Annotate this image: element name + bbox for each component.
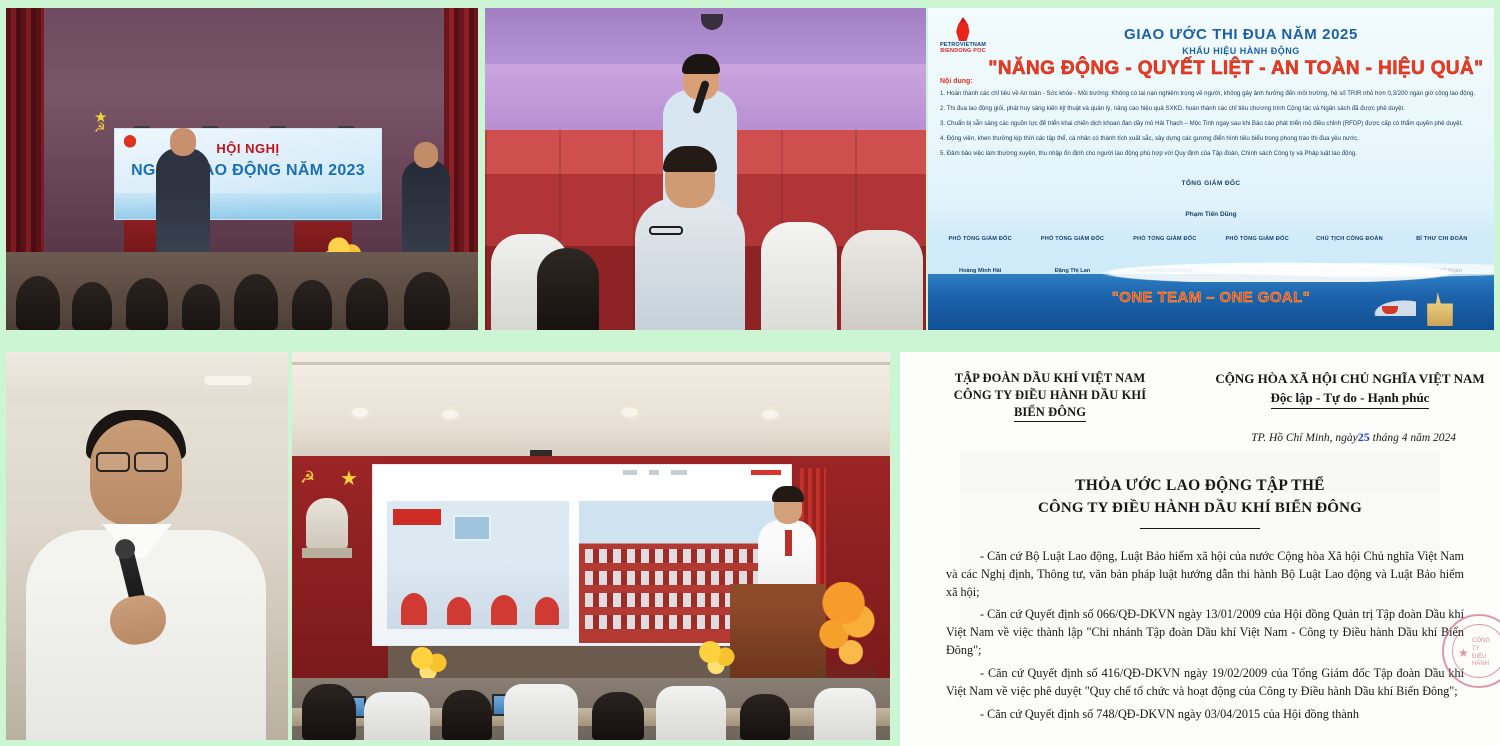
curtain-left xyxy=(6,8,44,260)
list-item: 1. Hoàn thành các chỉ tiêu về An toàn - … xyxy=(940,90,1484,98)
eyeglasses-icon xyxy=(134,452,168,472)
list-item: 5. Đảm bảo việc làm thường xuyên, thu nh… xyxy=(940,150,1484,158)
eyeglasses-icon xyxy=(649,226,683,235)
document-body: - Căn cứ Bộ Luật Lao động, Luật Bảo hiểm… xyxy=(946,548,1464,728)
attendee xyxy=(537,248,599,330)
clouds xyxy=(928,252,1494,282)
bust-pedestal xyxy=(302,548,352,558)
poster-slogan: "NĂNG ĐỘNG - QUYẾT LIỆT - AN TOÀN - HIỆU… xyxy=(988,58,1484,80)
eyeglasses-icon xyxy=(96,452,130,472)
hoi-nghi-nguoi-lao-dong-2023-photo[interactable]: ★ ☭ HỘI NGHỊ NGƯỜI LAO ĐỘNG NĂM 2023 xyxy=(6,8,478,330)
signatory-role: BÍ THƯ CHI ĐOÀN xyxy=(1396,236,1488,242)
video-conference-screen xyxy=(372,464,792,646)
document-title-line1: THỎA ƯỚC LAO ĐỘNG TẬP THỂ xyxy=(900,477,1500,495)
screen-title-line2: NGƯỜI LAO ĐỘNG NĂM 2023 xyxy=(115,162,381,180)
thoa-uoc-lao-dong-tap-the-document[interactable]: TẬP ĐOÀN DẦU KHÍ VIỆT NAM CÔNG TY ĐIỀU H… xyxy=(900,352,1500,746)
national-title: CỘNG HÒA XÃ HỘI CHỦ NGHĨA VIỆT NAM xyxy=(1200,370,1500,387)
audience-crowd xyxy=(6,252,478,330)
document-page: TẬP ĐOÀN DẦU KHÍ VIỆT NAM CÔNG TY ĐIỀU H… xyxy=(900,352,1500,746)
face xyxy=(90,420,182,526)
screen-wave-graphic xyxy=(115,193,381,219)
place-prefix: TP. Hồ Chí Minh, ngày xyxy=(1251,432,1358,444)
star-icon: ★ xyxy=(340,466,358,491)
poster-title: GIAO ƯỚC THI ĐUA NĂM 2025 xyxy=(998,26,1484,43)
audience-question-photo[interactable] xyxy=(485,8,926,330)
document-paragraph: - Căn cứ Quyết định số 748/QĐ-DKVN ngày … xyxy=(946,706,1464,724)
handwritten-day: 25 xyxy=(1358,430,1370,444)
star-icon: ★ xyxy=(1458,646,1469,661)
video-tile-left xyxy=(387,501,569,629)
title-divider xyxy=(1140,528,1260,529)
giao-uoc-thi-dua-2025-poster[interactable]: PETROVIETNAM BIENDONG POC GIAO ƯỚC THI Đ… xyxy=(928,8,1494,330)
org-line3: BIỂN ĐÔNG xyxy=(1014,404,1086,423)
document-header: TẬP ĐOÀN DẦU KHÍ VIỆT NAM CÔNG TY ĐIỀU H… xyxy=(900,370,1500,422)
party-flag: ★ ☭ xyxy=(90,104,116,138)
hammer-sickle-icon: ☭ xyxy=(94,120,106,136)
director-name: Phạm Tiến Dũng xyxy=(928,211,1494,218)
boat-icon xyxy=(1382,306,1398,314)
ceiling-lamp xyxy=(204,376,252,385)
list-item: 2. Thi đua lao động giỏi, phát huy sáng … xyxy=(940,105,1484,113)
wall-picture xyxy=(453,515,491,541)
seal-text: CÔNGTYĐIỀUHÀNH xyxy=(1472,638,1490,669)
list-item: 4. Động viên, khen thưởng kịp thời các t… xyxy=(940,135,1484,143)
document-paragraph: - Căn cứ Quyết định số 416/QĐ-DKVN ngày … xyxy=(946,665,1464,701)
signatory-role: PHÓ TỔNG GIÁM ĐỐC xyxy=(1026,236,1118,242)
flame-icon xyxy=(953,17,973,41)
presentation-screen: HỘI NGHỊ NGƯỜI LAO ĐỘNG NĂM 2023 xyxy=(114,128,382,220)
document-title-line2: CÔNG TY ĐIỀU HÀNH DẦU KHÍ BIỂN ĐÔNG xyxy=(900,500,1500,517)
list-item: 3. Chuẩn bị sẵn sàng các nguồn lực để tr… xyxy=(940,120,1484,128)
place-and-date: TP. Hồ Chí Minh, ngày25 tháng 4 năm 2024 xyxy=(1251,430,1456,445)
podium xyxy=(730,584,826,680)
attendee xyxy=(841,230,923,330)
flower-arrangement xyxy=(694,636,740,676)
director-role: TỔNG GIÁM ĐỐC xyxy=(928,180,1494,187)
hammer-sickle-icon: ☭ xyxy=(300,468,326,490)
screen-title-line1: HỘI NGHỊ xyxy=(115,141,381,156)
speaker-with-microphone-photo[interactable] xyxy=(6,352,288,740)
screen-toolbar xyxy=(373,465,791,481)
photo-collage: ★ ☭ HỘI NGHỊ NGƯỜI LAO ĐỘNG NĂM 2023 xyxy=(0,0,1500,746)
flower-arrangement xyxy=(406,642,452,682)
logo-line2: BIENDONG POC xyxy=(936,48,990,54)
document-paragraph: - Căn cứ Quyết định số 066/QĐ-DKVN ngày … xyxy=(946,606,1464,659)
petrovietnam-logo: PETROVIETNAM BIENDONG POC xyxy=(936,16,990,62)
place-suffix: tháng 4 năm 2024 xyxy=(1373,432,1456,444)
national-motto: Độc lập - Tự do - Hạnh phúc xyxy=(1271,389,1430,408)
necktie xyxy=(785,530,792,556)
header-left: TẬP ĐOÀN DẦU KHÍ VIỆT NAM CÔNG TY ĐIỀU H… xyxy=(900,370,1200,422)
red-banner xyxy=(393,509,441,525)
org-line2: CÔNG TY ĐIỀU HÀNH DẦU KHÍ xyxy=(900,387,1200,404)
header-right: CỘNG HÒA XÃ HỘI CHỦ NGHĨA VIỆT NAM Độc l… xyxy=(1200,370,1500,422)
poster-subtitle: KHẨU HIỆU HÀNH ĐỘNG xyxy=(998,46,1484,56)
foreground-person xyxy=(635,198,745,330)
org-line1: TẬP ĐOÀN DẦU KHÍ VIỆT NAM xyxy=(900,370,1200,387)
conference-room-video-screen-photo[interactable]: ☭ ★ xyxy=(292,352,890,740)
signatory-role: PHÓ TỔNG GIÁM ĐỐC xyxy=(934,236,1026,242)
signatory-roles: PHÓ TỔNG GIÁM ĐỐC PHÓ TỔNG GIÁM ĐỐC PHÓ … xyxy=(934,236,1488,242)
floor xyxy=(292,678,890,740)
ceiling xyxy=(292,352,890,456)
footer-slogan: "ONE TEAM – ONE GOAL" xyxy=(928,289,1494,306)
signatory-role: CHỦ TỊCH CÔNG ĐOÀN xyxy=(1303,236,1395,242)
content-list: 1. Hoàn thành các chỉ tiêu về An toàn - … xyxy=(940,90,1484,166)
attendee xyxy=(761,222,837,330)
ho-chi-minh-bust xyxy=(306,498,348,550)
document-paragraph: - Căn cứ Bộ Luật Lao động, Luật Bảo hiểm… xyxy=(946,548,1464,601)
signatory-role: PHÓ TỔNG GIÁM ĐỐC xyxy=(1119,236,1211,242)
content-label: Nội dung: xyxy=(940,78,973,85)
signatory-role: PHÓ TỔNG GIÁM ĐỐC xyxy=(1211,236,1303,242)
